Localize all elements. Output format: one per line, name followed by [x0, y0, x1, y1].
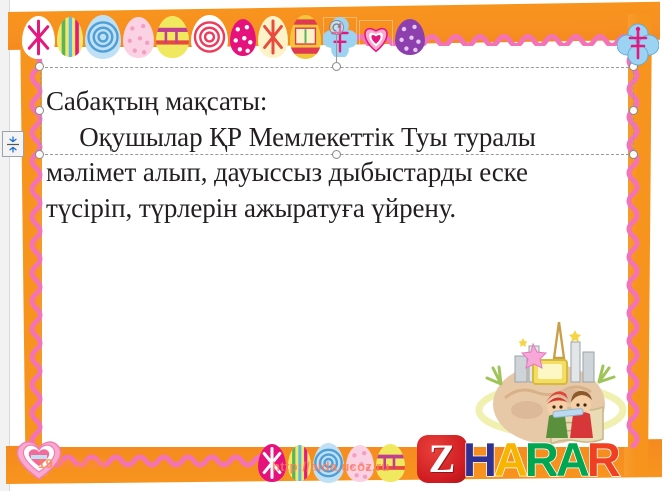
resize-handle-bottom-left[interactable] [35, 150, 44, 159]
rotation-handle-stem [336, 33, 337, 62]
logo-letter-z: Z [417, 435, 467, 483]
egg-heart-pink [359, 20, 393, 54]
egg-pink-cross [22, 16, 55, 59]
egg-pink-dots [123, 17, 154, 58]
egg-gold-folk [290, 15, 321, 59]
resize-handle-top-left[interactable] [35, 62, 44, 71]
autofit-vertical-icon[interactable] [2, 131, 24, 157]
egg-blue-spiral [85, 15, 121, 59]
decoration-egg-row-top [22, 14, 425, 60]
resize-handle-middle-left[interactable] [35, 106, 44, 115]
egg-purple-dots [395, 19, 425, 55]
rotate-icon[interactable] [329, 20, 344, 35]
url-watermark: http://aida.ucoz.ru [272, 459, 390, 474]
egg-cream-cross [258, 16, 288, 58]
zharar-logo: Z H A R A R [417, 433, 618, 485]
slide-left-gutter [0, 0, 10, 491]
egg-striped-green [57, 17, 83, 57]
slide-body-text[interactable]: Сабақтың мақсаты: Оқушылар ҚР Мемлекетті… [46, 84, 586, 226]
logo-letter-r2: R [587, 436, 618, 483]
egg-yellow-bands [156, 16, 189, 58]
slide-canvas[interactable]: Сабақтың мақсаты: Оқушылар ҚР Мемлекетті… [0, 0, 667, 491]
logo-letter-a1: A [494, 436, 525, 483]
logo-letter-r1: R [525, 436, 556, 483]
logo-letter-a2: A [556, 436, 587, 483]
corner-decoration-top-right [617, 22, 659, 71]
resize-handle-top-center[interactable] [332, 62, 341, 71]
resize-handle-bottom-right[interactable] [629, 150, 638, 159]
date-watermark: 19.06.2020 [38, 456, 106, 471]
logo-letter-h: H [463, 436, 494, 483]
resize-handle-middle-right[interactable] [629, 106, 638, 115]
egg-magenta-dots [230, 19, 256, 56]
egg-red-spiral [191, 15, 228, 59]
